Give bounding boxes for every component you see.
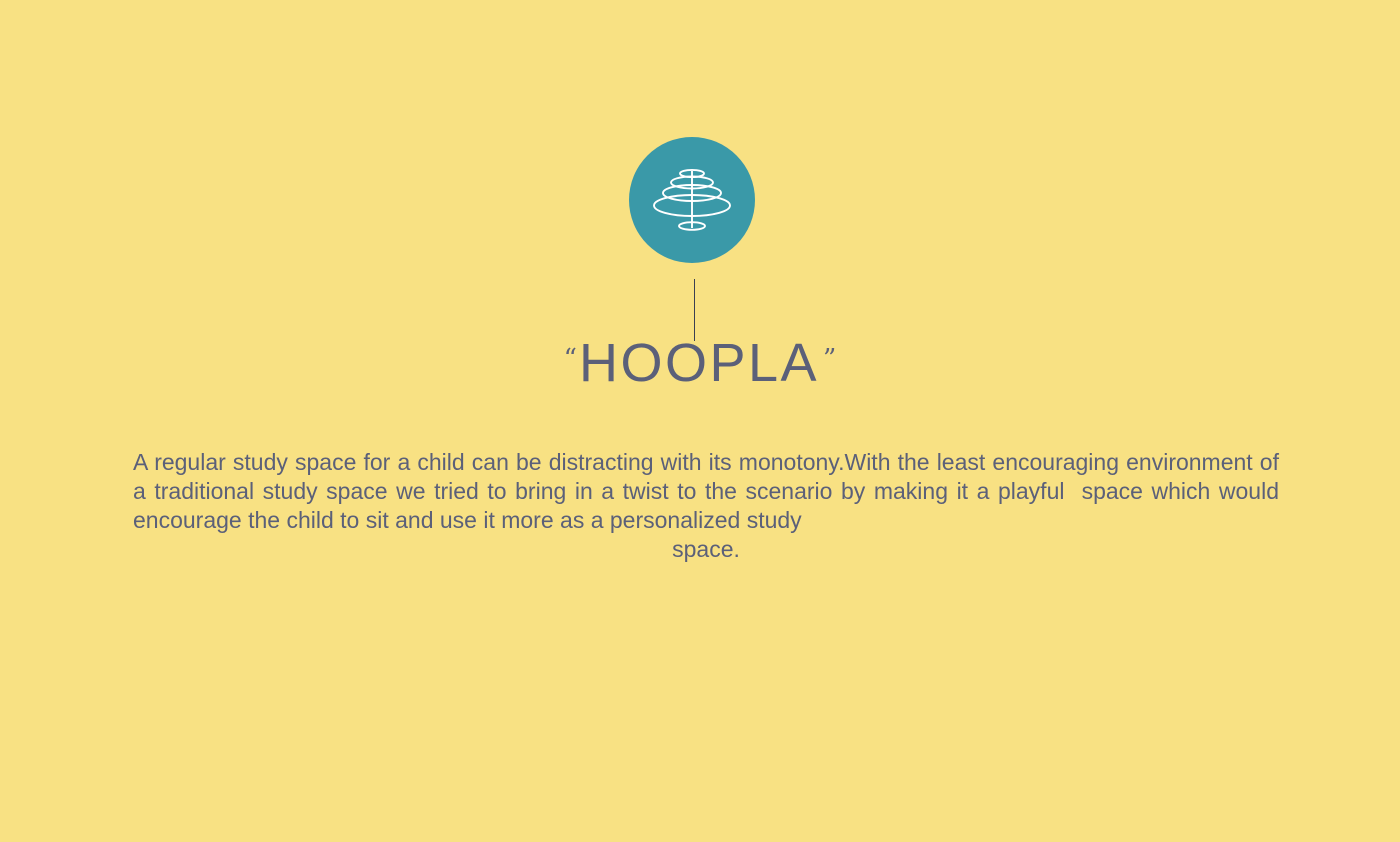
quote-open-mark: “ (564, 344, 577, 374)
hoopla-rings-pole-icon (644, 152, 740, 248)
page-title: “HOOPLA” (0, 336, 1400, 390)
slide-canvas: “HOOPLA” A regular study space for a chi… (0, 0, 1400, 842)
description-text: A regular study space for a child can be… (133, 449, 1285, 533)
logo-badge (629, 137, 755, 263)
description-paragraph: A regular study space for a child can be… (133, 448, 1279, 564)
quote-close-mark: ” (823, 344, 836, 374)
title-word: HOOPLA (579, 333, 819, 393)
description-text-tail: space. (133, 535, 1279, 564)
connector-stem (694, 279, 695, 341)
